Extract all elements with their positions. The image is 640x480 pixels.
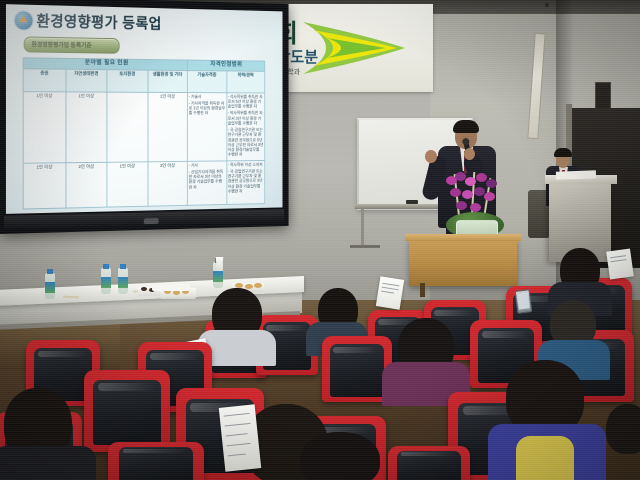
- bottle-label: [101, 277, 111, 288]
- cert-line: - 산업기사자격을 취득한 자로서 3년 이상의 환경 기술업무를 수행한 자: [189, 169, 225, 190]
- slide-subtitle-text: 환경영향평가업 등록기준: [32, 40, 92, 50]
- audience-scarf: [516, 436, 574, 480]
- orchid-petal: [465, 177, 476, 186]
- col-certificate: 기술자격증: [187, 70, 226, 92]
- seat-highlight: [98, 383, 155, 391]
- auditorium-seat: [84, 370, 170, 452]
- seat-highlight: [401, 452, 455, 456]
- phone-screen: [517, 292, 530, 309]
- table-row: 1인 이상 2인 이상 1인 이상 3인 이상 - 기사 - 산업기사자격을 취…: [23, 160, 265, 208]
- text-line: [227, 443, 251, 447]
- orchid-petal: [470, 203, 481, 212]
- water-bottle: [118, 268, 128, 294]
- cell-total: 1인 이상: [23, 91, 65, 163]
- wooden-podium: [409, 238, 517, 286]
- table-column-header-row: 총원 자연생태환경 토지환경 생활환경 및 기타 기술자격증 학력/경력: [23, 68, 265, 92]
- seat-highlight: [266, 325, 307, 331]
- whiteboard-foot: [350, 245, 380, 248]
- projection-screen: 환경영향평가 등록업 환경영향평가업 등록기준 분야별 필요 인원 자격인정범위…: [0, 0, 289, 234]
- cell-living: 3인 이상: [148, 161, 188, 206]
- career-line: - 학사학위 이상 소지자: [228, 161, 264, 166]
- slide-logo-icon: [14, 10, 34, 30]
- text-line: [381, 291, 394, 294]
- seat-highlight: [482, 331, 530, 338]
- bottle-cap: [120, 264, 126, 269]
- text-line: [226, 433, 248, 436]
- text-line: [382, 287, 399, 291]
- presentation-slide: 환경영향평가 등록업 환경영향평가업 등록기준 분야별 필요 인원 자격인정범위…: [6, 4, 283, 214]
- cell-land: 1인 이상: [107, 161, 148, 206]
- cell-land: [107, 92, 148, 162]
- podium-top-surface: [405, 234, 521, 241]
- seat-highlight: [150, 353, 199, 360]
- auditorium-seat: [108, 442, 204, 480]
- career-line: - 국·공립연구기관 또는 연구기관 근무자 및 환경관련 공무원으로 5년 이…: [228, 127, 264, 157]
- cell-career: - 학사학위 이상 소지자 - 국·공립연구기관 또는 연구기관 근무자 및 환…: [226, 160, 264, 204]
- snack-item: [141, 287, 147, 291]
- text-line: [224, 413, 250, 417]
- slide-table: 분야별 필요 인원 자격인정범위 총원 자연생태환경 토지환경 생활환경 및 기…: [23, 57, 265, 209]
- snack-tray: [152, 284, 190, 291]
- text-line: [382, 283, 399, 287]
- lecture-hall-photo: 수회 구전학도분 고급 환경공학과: [0, 0, 640, 480]
- lectern-papers: [556, 170, 596, 179]
- audience-head: [300, 432, 380, 480]
- career-line: - 국·공립연구기관 또는 연구기관 근무자 및 환경관련 공무원으로 3년 이…: [228, 168, 264, 193]
- cell-living: 1인 이상: [148, 92, 188, 161]
- cell-total: 1인 이상: [23, 162, 65, 208]
- orchid-petal: [486, 179, 497, 188]
- orchid-petal: [476, 173, 487, 182]
- audience-shoulders: [0, 446, 96, 480]
- water-bottle: [45, 273, 55, 299]
- seat-highlight: [123, 449, 186, 453]
- podium-leg: [420, 283, 425, 297]
- orchid-petal: [456, 201, 467, 210]
- presenter-left-hand: [425, 150, 437, 163]
- handout: [376, 276, 404, 309]
- text-line: [610, 255, 626, 258]
- presenter-right-hand: [464, 148, 475, 160]
- bottle-label: [118, 277, 128, 288]
- text-line: [611, 259, 627, 262]
- cell-certificate: - 기술사 - 기사자격을 취득한 자로 1년 이상의 환경실무를 수행한 자: [187, 92, 226, 161]
- bottle-cap: [103, 264, 109, 269]
- ceiling-fixture-icon: [545, 3, 549, 7]
- cell-certificate: - 기사 - 산업기사자격을 취득한 자로서 3년 이상의 환경 기술업무를 수…: [187, 160, 226, 204]
- career-line: - 박사학위를 취득한 자로서 3년 이상 환경 기술업무를 수행한 자: [228, 111, 264, 126]
- text-line: [228, 453, 246, 456]
- cell-nature: 2인 이상: [65, 162, 106, 208]
- cert-line: - 기사: [189, 162, 225, 167]
- career-line: - 석사학위를 취득한 자로서 5년 이상 환경 기술업무를 수행한 자: [228, 94, 264, 109]
- handout: [219, 404, 261, 471]
- projection-screen-surface: 환경영향평가 등록업 환경영향평가업 등록기준 분야별 필요 인원 자격인정범위…: [6, 4, 283, 214]
- seat-highlight: [434, 310, 475, 316]
- cert-line: - 기술사: [189, 94, 225, 99]
- cert-line: - 기사자격을 취득한 자로 1년 이상의 환경실무를 수행한 자: [189, 100, 225, 115]
- col-land: 토지환경: [107, 69, 148, 92]
- seat-highlight: [38, 351, 87, 358]
- smartphone-icon: [515, 289, 533, 314]
- table-row: 1인 이상 1인 이상 1인 이상 - 기술사 - 기사자격을 취득한 자로 1…: [23, 91, 265, 163]
- slide-subtitle-badge: 환경영향평가업 등록기준: [24, 36, 120, 53]
- col-nature: 자연생태환경: [65, 69, 106, 92]
- whiteboard-marker-icon: [406, 200, 418, 204]
- whiteboard-leg-left: [361, 209, 364, 247]
- slide-title: 환경영향평가 등록업: [36, 10, 161, 33]
- snack-item: [245, 284, 253, 289]
- audience-head: [606, 404, 640, 454]
- snack-item: [254, 283, 262, 288]
- presenter-hair: [453, 120, 479, 133]
- col-total: 총원: [23, 68, 65, 91]
- orchid-petal: [462, 190, 473, 199]
- col-living: 생활환경 및 기타: [148, 70, 188, 92]
- bottle-cap: [47, 269, 53, 274]
- auditorium-seat: [388, 446, 470, 480]
- handout: [606, 248, 634, 279]
- screen-pull-knob: [144, 218, 159, 224]
- col-career: 학력/경력: [226, 71, 264, 93]
- seated-official-hair: [554, 148, 572, 157]
- water-bottle: [101, 268, 111, 294]
- seat-highlight: [333, 347, 379, 354]
- text-line: [225, 423, 251, 427]
- orchid-petal: [484, 192, 495, 201]
- cell-career: - 석사학위를 취득한 자로서 5년 이상 환경 기술업무를 수행한 자 - 박…: [226, 92, 264, 160]
- orchid-petal: [450, 188, 461, 197]
- bottle-label: [213, 271, 223, 282]
- cell-nature: 1인 이상: [65, 91, 106, 162]
- bottle-label: [45, 282, 55, 293]
